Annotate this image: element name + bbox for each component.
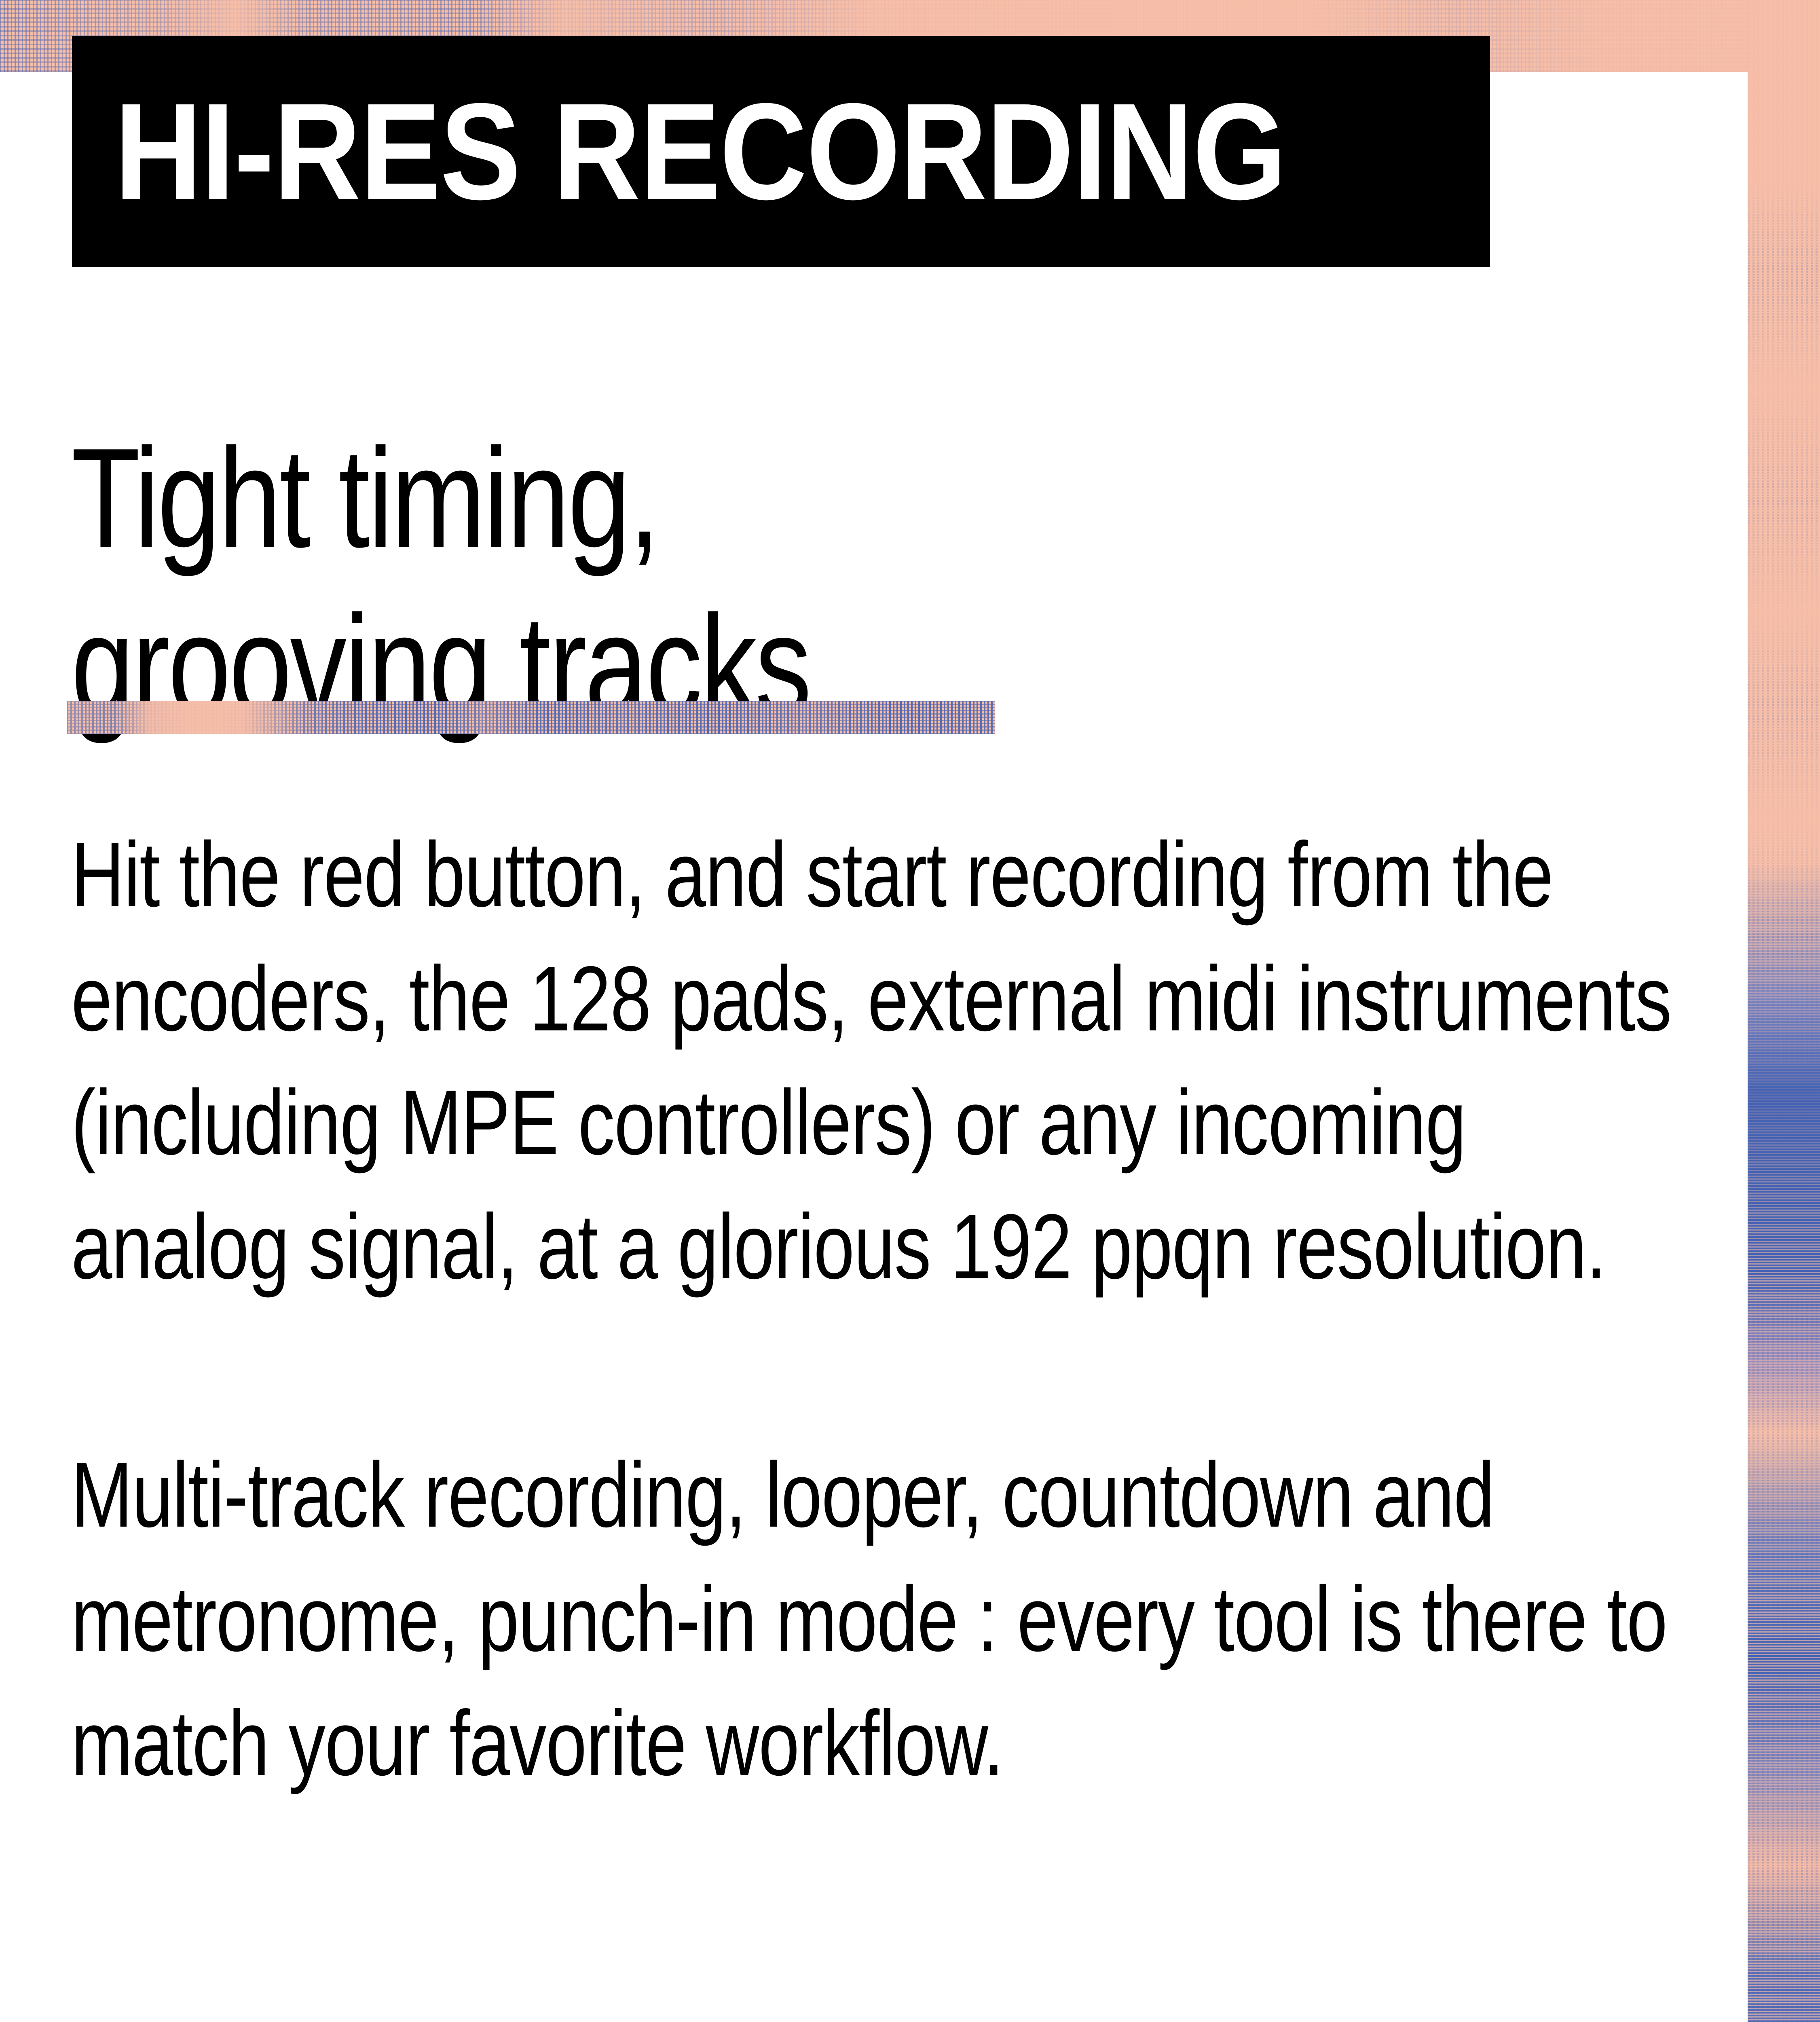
body-paragraph-2: Multi-track recording, looper, countdown… bbox=[71, 1433, 1672, 1805]
poster-page: HI-RES RECORDING Tight timing, grooving … bbox=[0, 0, 1820, 2022]
body-copy: Hit the red button, and start recording … bbox=[71, 813, 1672, 1805]
body-paragraph-1: Hit the red button, and start recording … bbox=[71, 813, 1672, 1309]
divider-noise-texture bbox=[67, 701, 995, 734]
page-title: Tight timing, grooving tracks bbox=[71, 415, 1171, 749]
kicker-banner: HI-RES RECORDING bbox=[72, 36, 1490, 267]
kicker-label: HI-RES RECORDING bbox=[114, 83, 1286, 220]
right-band-noise-texture bbox=[1748, 0, 1820, 2022]
right-decorative-band bbox=[1748, 0, 1820, 2022]
gradient-divider-rule bbox=[67, 701, 995, 734]
